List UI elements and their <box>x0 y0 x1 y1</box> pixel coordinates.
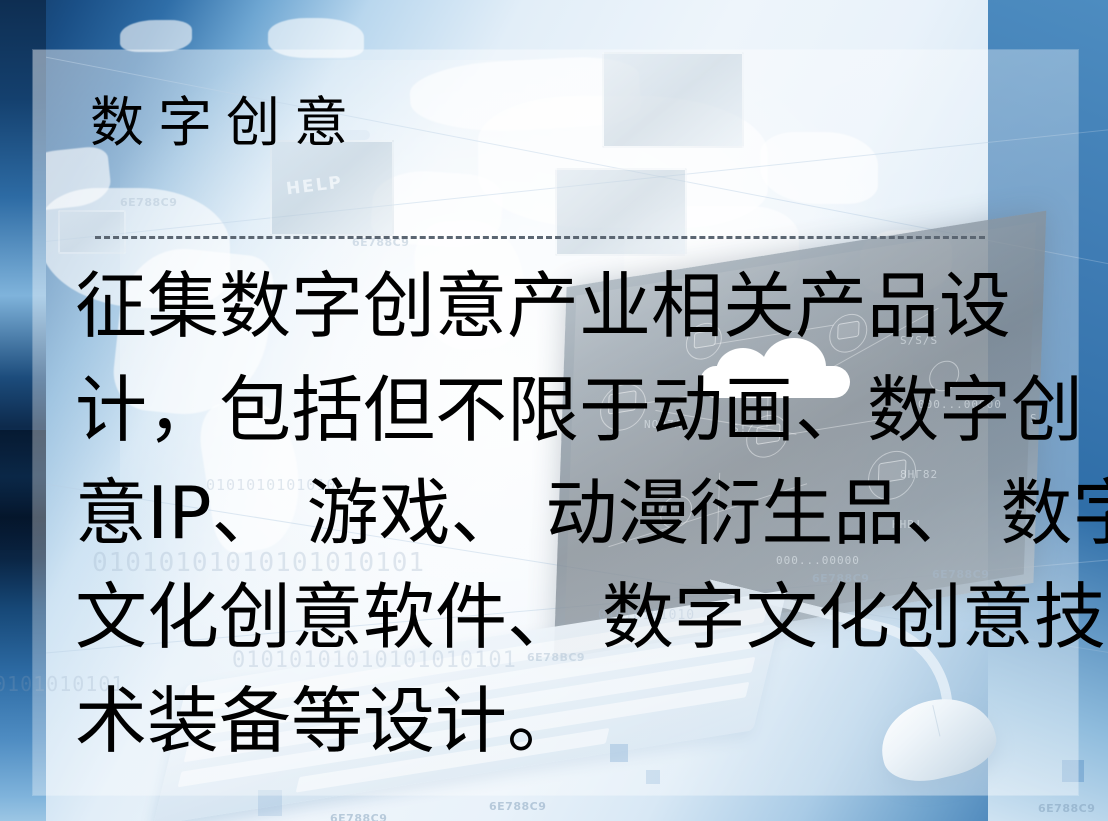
body-line: 术装备等设计。 <box>75 670 1047 774</box>
watermark-text: 6E788C9 <box>330 812 387 821</box>
slide-title: 数字创意 <box>90 96 362 150</box>
body-line: 计，包括但不限于动画、数字创 <box>75 359 1047 463</box>
presentation-slide: HELP 01010101010101010101010101010101010… <box>0 0 1108 821</box>
title-divider <box>95 236 985 239</box>
watermark-text: 6E788C9 <box>1038 802 1095 815</box>
body-line: 意IP、 游戏、 动漫衍生品、 数字 <box>75 462 1047 566</box>
body-line: 文化创意软件、 数字文化创意技 <box>75 566 1047 670</box>
body-line: 征集数字创意产业相关产品设 <box>75 255 1047 359</box>
slide-body-text: 征集数字创意产业相关产品设计，包括但不限于动画、数字创意IP、 游戏、 动漫衍生… <box>75 255 1047 773</box>
content-panel: 数字创意 征集数字创意产业相关产品设计，包括但不限于动画、数字创意IP、 游戏、… <box>33 50 1078 795</box>
watermark-text: 6E788C9 <box>489 800 546 813</box>
